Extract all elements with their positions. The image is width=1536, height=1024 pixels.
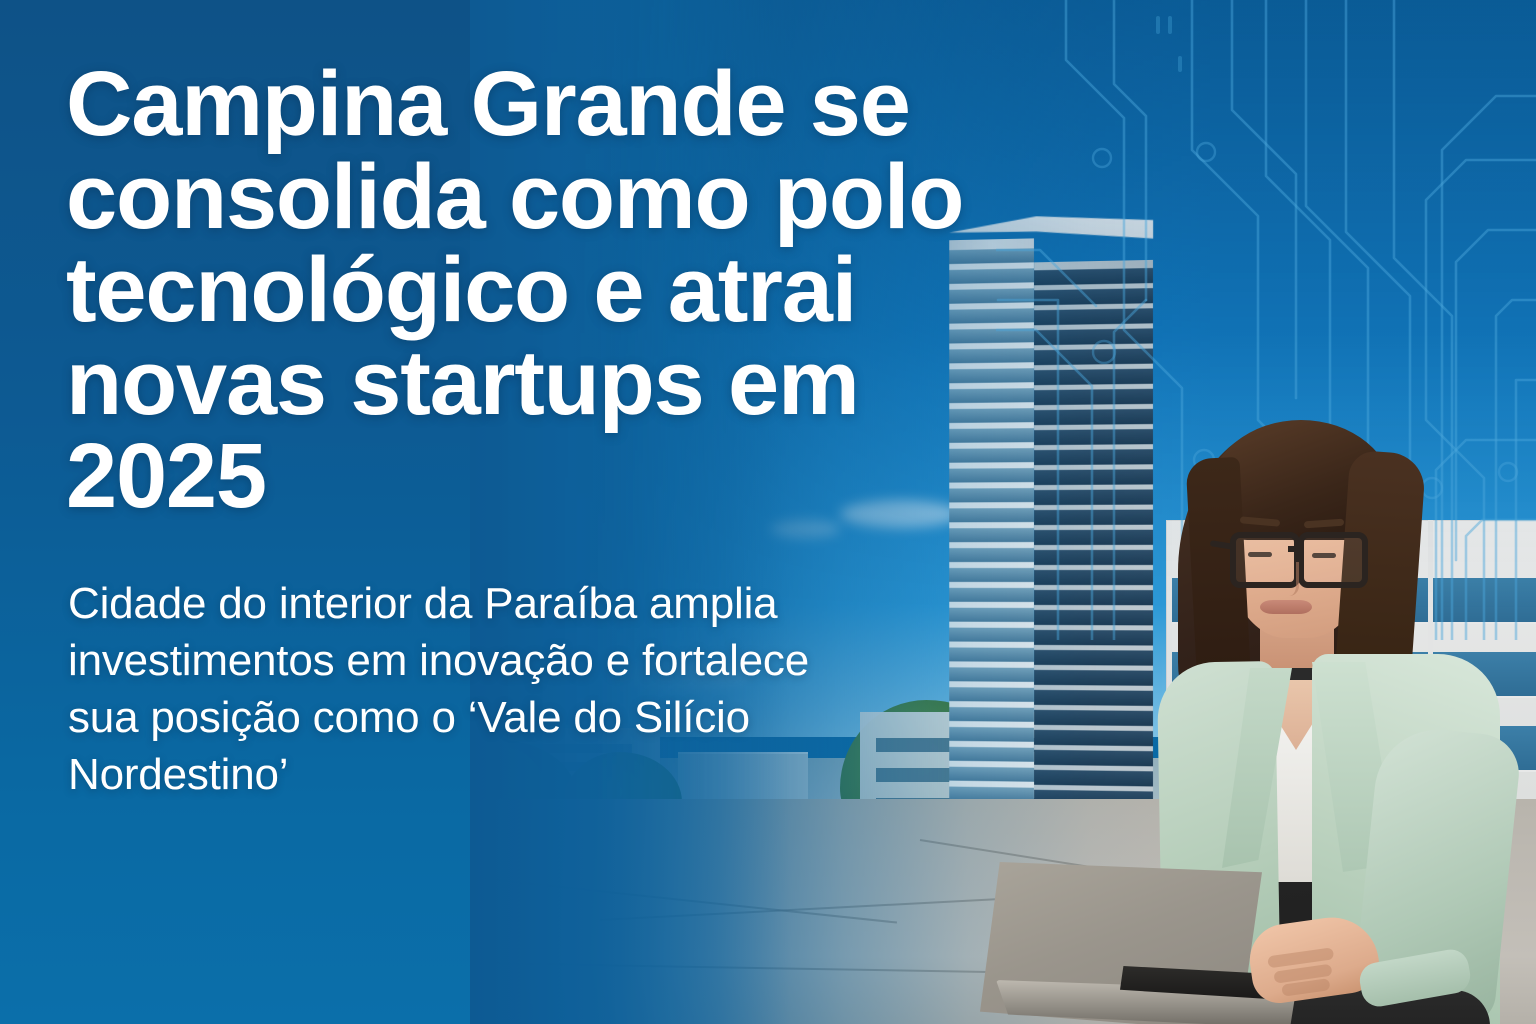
glasses-bridge <box>1288 546 1300 552</box>
mouth <box>1260 600 1312 614</box>
woman-with-laptop <box>960 400 1520 1024</box>
page-subtitle: Cidade do interior da Paraíba amplia inv… <box>68 575 888 803</box>
glasses-lens-right <box>1298 532 1368 588</box>
news-banner: Campina Grande se consolida como polo te… <box>0 0 1536 1024</box>
page-title: Campina Grande se consolida como polo te… <box>66 58 1006 523</box>
nose <box>1278 562 1299 596</box>
